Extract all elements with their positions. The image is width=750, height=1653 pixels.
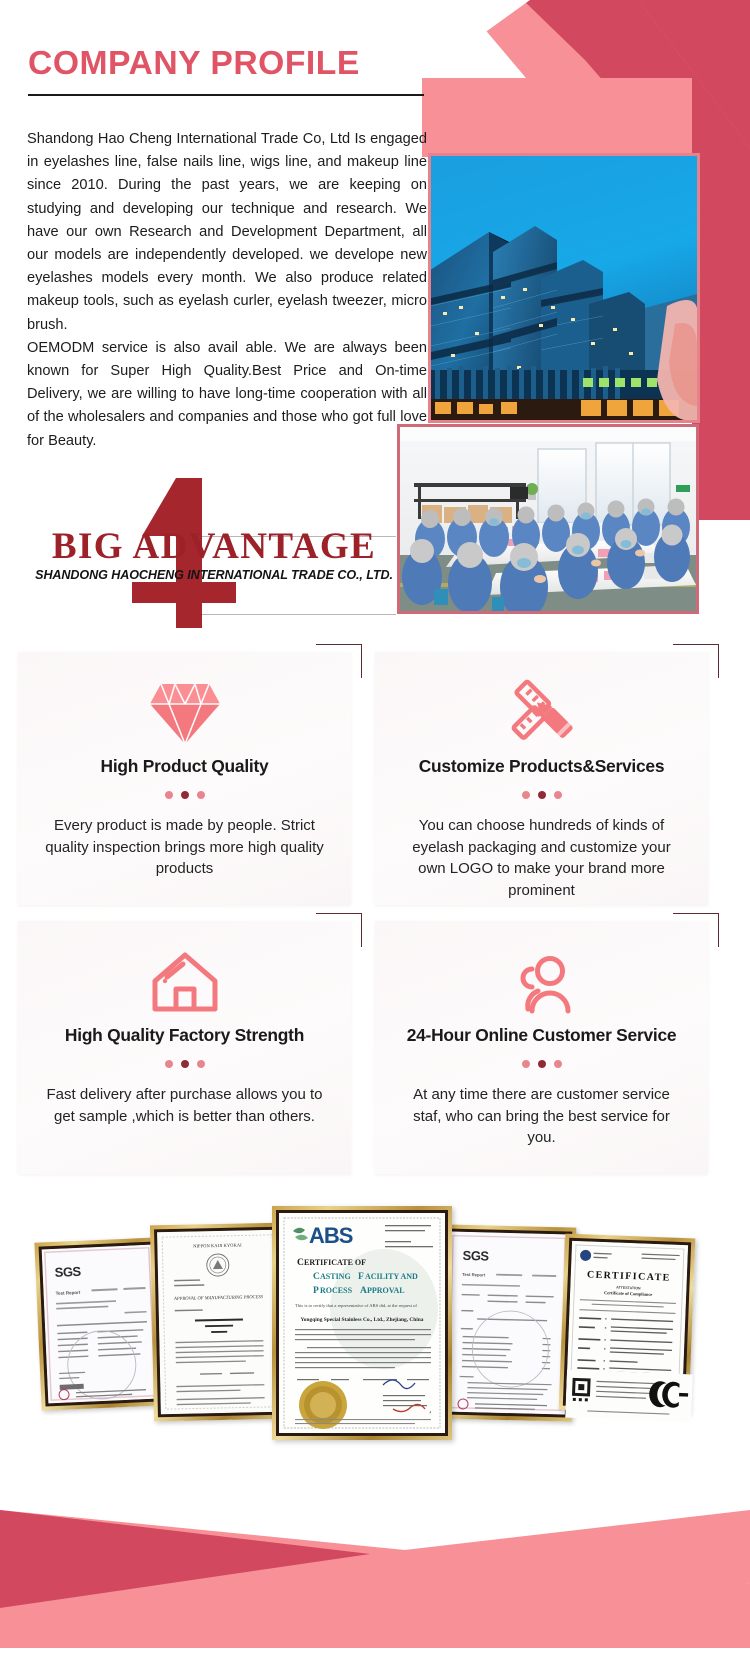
big-advantage-logo: BIG ADVANTAGE SHANDONG HAOCHENG INTERNAT… — [34, 478, 394, 628]
svg-text:ACILITY AND: ACILITY AND — [365, 1272, 418, 1281]
certificate-sgs-1: SGS Test Report — [34, 1237, 165, 1410]
advantage-card-high-quality-factory-strength[interactable]: High Quality Factory Strength Fast deliv… — [18, 921, 351, 1174]
svg-text:C: C — [297, 1258, 304, 1268]
svg-text:ASTING: ASTING — [320, 1272, 351, 1281]
office-building-photo — [428, 153, 700, 423]
card-dots — [18, 791, 351, 799]
card-title: 24-Hour Online Customer Service — [375, 1025, 708, 1046]
ce-mark-block — [565, 1370, 693, 1423]
certificate-nippon-kaiji-kyokai: NIPPON KAIJI KYOKAI APPROVAL OF MANUFACT… — [150, 1223, 288, 1422]
svg-text:د: د — [429, 1410, 431, 1415]
customer-service-people-icon — [375, 943, 708, 1021]
factory-workers-photo — [397, 424, 699, 614]
bottom-decoration — [0, 1448, 750, 1648]
card-row-1: High Product Quality Every product is ma… — [18, 652, 708, 905]
card-corner-bracket — [673, 644, 719, 678]
card-title: High Product Quality — [18, 756, 351, 777]
certificate-abs-casting-facility: ABS C ERTIFICATE OF C ASTING F ACILITY A… — [272, 1206, 452, 1440]
advantage-card-24-hour-online-customer-service[interactable]: 24-Hour Online Customer Service At any t… — [375, 921, 708, 1174]
svg-text:SGS: SGS — [462, 1248, 489, 1264]
card-dots — [375, 791, 708, 799]
page-title: COMPANY PROFILE — [28, 44, 456, 82]
advantage-cards: High Product Quality Every product is ma… — [18, 652, 708, 1174]
certificate-sgs-2: SGS Test Report — [438, 1224, 577, 1421]
svg-text:P: P — [313, 1286, 319, 1296]
svg-text:Test Report: Test Report — [462, 1272, 486, 1278]
card-corner-bracket — [673, 913, 719, 947]
svg-text:NIPPON KAIJI KYOKAI: NIPPON KAIJI KYOKAI — [193, 1242, 242, 1248]
logo-wordmark: BIG ADVANTAGE — [34, 528, 394, 565]
title-underline — [28, 94, 424, 96]
svg-text:ABS: ABS — [309, 1223, 353, 1248]
page-header: COMPANY PROFILE — [28, 44, 448, 96]
card-title: Customize Products&Services — [375, 756, 708, 777]
svg-text:C: C — [313, 1272, 320, 1282]
card-dots — [375, 1060, 708, 1068]
house-icon — [18, 943, 351, 1021]
card-dots — [18, 1060, 351, 1068]
card-body: You can choose hundreds of kinds of eyel… — [375, 815, 708, 901]
card-row-2: High Quality Factory Strength Fast deliv… — [18, 921, 708, 1174]
card-corner-bracket — [316, 913, 362, 947]
svg-text:ERTIFICATE OF: ERTIFICATE OF — [304, 1258, 366, 1267]
company-intro: Shandong Hao Cheng International Trade C… — [27, 128, 427, 453]
svg-text:SGS: SGS — [54, 1264, 81, 1280]
card-corner-bracket — [316, 644, 362, 678]
card-body: Every product is made by people. Strict … — [18, 815, 351, 880]
svg-text:F: F — [358, 1272, 364, 1282]
svg-text:Yongqing Special Stainless Co.: Yongqing Special Stainless Co., Ltd., Zh… — [301, 1317, 424, 1323]
logo-company-line: SHANDONG HAOCHENG INTERNATIONAL TRADE CO… — [34, 568, 394, 582]
card-body: Fast delivery after purchase allows you … — [18, 1084, 351, 1127]
svg-text:ROCESS: ROCESS — [320, 1286, 353, 1295]
svg-text:PPROVAL: PPROVAL — [367, 1286, 405, 1295]
svg-text:A: A — [360, 1286, 367, 1296]
advantage-card-customize-products-services[interactable]: Customize Products&Services You can choo… — [375, 652, 708, 905]
certificates-gallery: SGS Test Report — [0, 1196, 750, 1436]
intro-paragraph-1: Shandong Hao Cheng International Trade C… — [27, 128, 427, 337]
advantage-card-high-product-quality[interactable]: High Product Quality Every product is ma… — [18, 652, 351, 905]
card-title: High Quality Factory Strength — [18, 1025, 351, 1046]
pencil-ruler-icon — [375, 674, 708, 752]
card-body: At any time there are customer service s… — [375, 1084, 708, 1149]
intro-paragraph-2: OEMODM service is also avail able. We ar… — [27, 337, 427, 453]
diamond-icon — [18, 674, 351, 752]
